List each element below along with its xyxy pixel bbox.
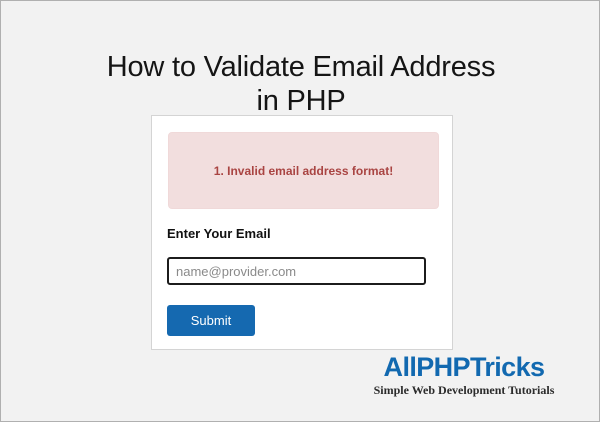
logo-tagline: Simple Web Development Tutorials [369,383,559,397]
page-title-line-2: in PHP [1,84,600,118]
site-logo: AllPHPTricks Simple Web Development Tuto… [369,353,559,397]
submit-button[interactable]: Submit [167,305,255,336]
email-field-label: Enter Your Email [167,226,271,241]
email-input[interactable] [167,257,426,285]
page-title-line-1: How to Validate Email Address [107,51,496,83]
page-title: How to Validate Email Address in PHP [1,50,600,118]
error-alert: 1. Invalid email address format! [168,132,439,209]
logo-wordmark: AllPHPTricks [369,353,559,381]
page-frame: How to Validate Email Address in PHP 1. … [0,0,600,422]
email-validation-card: 1. Invalid email address format! Enter Y… [151,115,453,350]
